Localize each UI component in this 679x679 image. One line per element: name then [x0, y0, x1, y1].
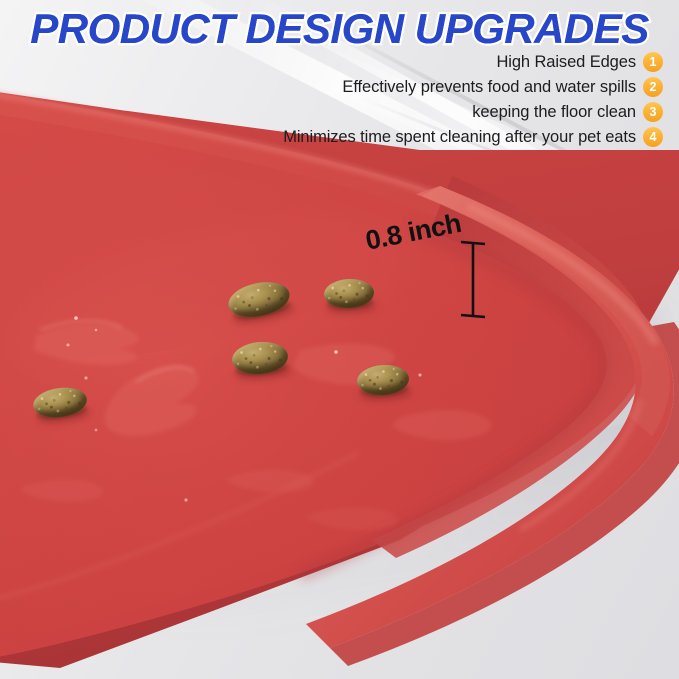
feature-label: Minimizes time spent cleaning after your…: [283, 128, 636, 147]
kibble-piece: [323, 278, 374, 310]
feature-badge-3: 3: [643, 102, 663, 122]
feature-item-3: keeping the floor clean 3: [472, 102, 663, 122]
product-image: 0.8 inch PRODUCT DESIGN UPGRADES PRODUCT…: [0, 0, 679, 679]
feature-label: keeping the floor clean: [472, 103, 636, 122]
feature-label: High Raised Edges: [496, 53, 636, 72]
feature-label: Effectively prevents food and water spil…: [342, 78, 636, 97]
feature-badge-4: 4: [643, 127, 663, 147]
feature-item-1: High Raised Edges 1: [496, 52, 663, 72]
feature-badge-1: 1: [643, 52, 663, 72]
feature-badge-2: 2: [643, 77, 663, 97]
feature-item-2: Effectively prevents food and water spil…: [342, 77, 663, 97]
page-title: PRODUCT DESIGN UPGRADES: [0, 2, 679, 56]
feature-item-4: Minimizes time spent cleaning after your…: [283, 127, 663, 147]
dimension-beam-icon: [458, 238, 488, 327]
feature-list: High Raised Edges 1 Effectively prevents…: [283, 52, 663, 147]
